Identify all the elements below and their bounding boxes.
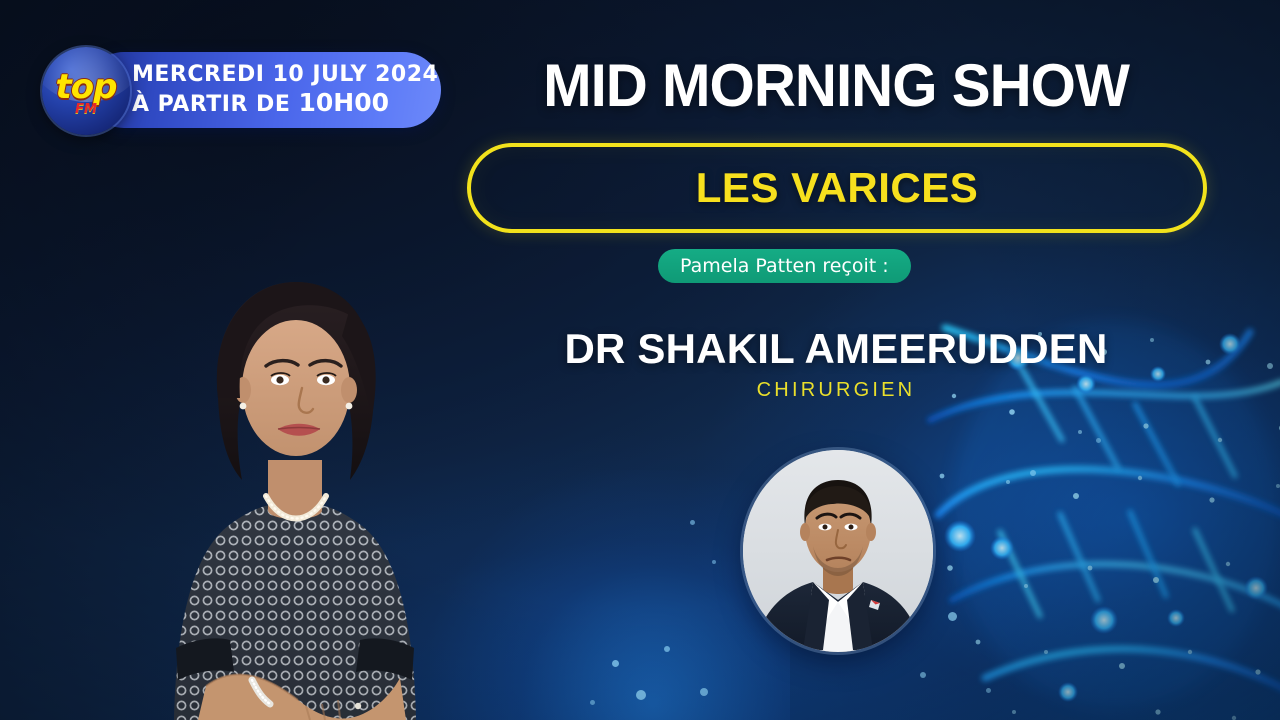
broadcast-promo-graphic: top FM MERCREDI 10 JULY 2024 À PARTIR DE… [0, 0, 1280, 720]
schedule-badge: MERCREDI 10 JULY 2024 À PARTIR DE 10H00 [86, 52, 441, 128]
blue-glow-decoration [430, 470, 790, 720]
guest-name: DR SHAKIL AMEERUDDEN [460, 325, 1212, 373]
logo-top-text: top [42, 70, 130, 104]
host-intro-label: Pamela Patten reçoit : [680, 257, 889, 276]
host-intro-badge: Pamela Patten reçoit : [658, 249, 911, 283]
top-fm-logo[interactable]: top FM [42, 47, 130, 135]
host-portrait [110, 248, 480, 720]
topic-box: LES VARICES [467, 143, 1207, 233]
topic-label: LES VARICES [696, 167, 978, 209]
schedule-time-value: 10H00 [299, 88, 390, 117]
schedule-time: À PARTIR DE 10H00 [132, 89, 441, 119]
guest-portrait [743, 450, 933, 652]
schedule-date: MERCREDI 10 JULY 2024 [132, 61, 441, 89]
guest-role: CHIRURGIEN [460, 378, 1212, 402]
show-title: MID MORNING SHOW [471, 50, 1200, 122]
schedule-time-prefix: À PARTIR DE [132, 92, 299, 117]
logo-fm-text: FM [42, 103, 130, 116]
